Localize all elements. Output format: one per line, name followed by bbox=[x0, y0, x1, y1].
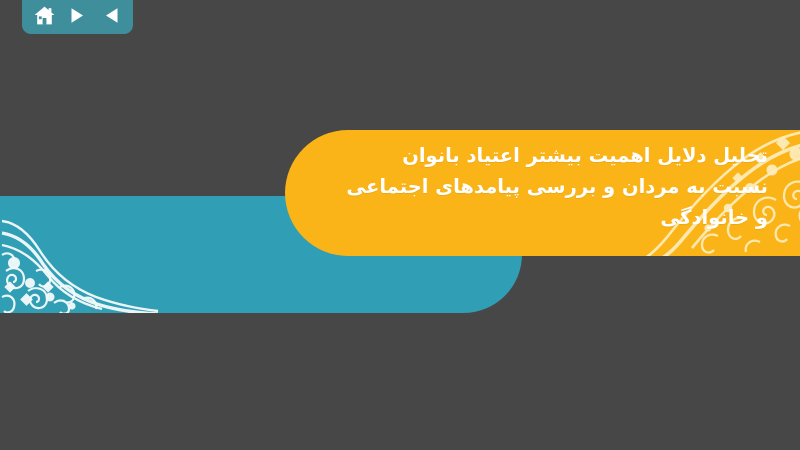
previous-button[interactable] bbox=[98, 3, 124, 27]
arabesque-ornament-icon bbox=[0, 196, 160, 313]
slide-title: تحلیل دلایل اهمیت بیشتر اعتیاد بانوان نس… bbox=[248, 140, 768, 233]
title-line-2: نسبت به مردان و بررسی پیامدهای اجتماعی bbox=[248, 171, 768, 202]
navigation-bar bbox=[22, 0, 133, 34]
title-line-1: تحلیل دلایل اهمیت بیشتر اعتیاد بانوان bbox=[248, 140, 768, 171]
home-icon bbox=[34, 6, 55, 25]
slide-canvas: تحلیل دلایل اهمیت بیشتر اعتیاد بانوان نس… bbox=[0, 0, 800, 450]
title-line-3: و خانوادگی bbox=[248, 202, 768, 233]
triangle-right-icon bbox=[70, 7, 85, 24]
home-button[interactable] bbox=[31, 3, 57, 27]
next-button[interactable] bbox=[65, 3, 91, 27]
triangle-left-icon bbox=[104, 7, 119, 24]
